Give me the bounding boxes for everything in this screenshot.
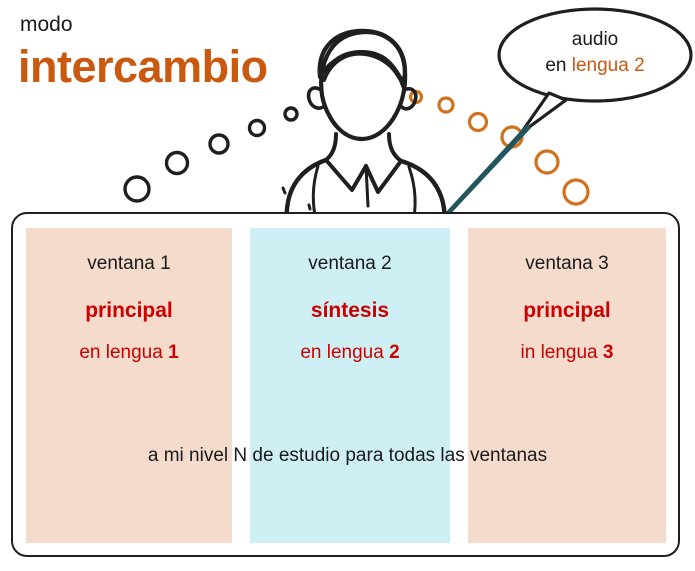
panel-footer-note: a mi nivel N de estudio para todas las v…	[0, 446, 695, 465]
diagram-canvas: modo intercambio	[0, 0, 695, 571]
window-role-2: síntesis	[250, 300, 450, 321]
thought-bubbles-orange	[411, 92, 589, 205]
window-language-prefix-2: en lengua	[300, 342, 389, 363]
window-role-3: principal	[468, 300, 666, 321]
window-label-3: ventana 3	[468, 254, 666, 273]
speech-balloon-line-2-prefix: en	[545, 55, 571, 76]
window-language-prefix-3: in lengua	[521, 342, 603, 363]
window-language-number-2: 2	[389, 342, 400, 363]
speech-balloon-line-1: audio	[505, 27, 685, 53]
speech-balloon-line-2-accent: lengua 2	[572, 55, 645, 76]
thought-bubbles-black	[125, 108, 297, 201]
speech-balloon-text: audio en lengua 2	[505, 27, 685, 78]
window-language-prefix-1: en lengua	[79, 342, 168, 363]
window-column-2[interactable]: ventana 2 síntesis en lengua 2	[250, 228, 450, 543]
window-role-1: principal	[26, 300, 232, 321]
window-language-1: en lengua 1	[26, 343, 232, 362]
page-title: intercambio	[18, 44, 268, 89]
window-language-number-1: 1	[168, 342, 179, 363]
window-language-number-3: 3	[603, 342, 614, 363]
window-language-3: in lengua 3	[468, 343, 666, 362]
window-language-2: en lengua 2	[250, 343, 450, 362]
eyebrow-label: modo	[20, 14, 73, 35]
window-column-3[interactable]: ventana 3 principal in lengua 3	[468, 228, 666, 543]
speech-balloon-line-2: en lengua 2	[505, 53, 685, 79]
window-column-1[interactable]: ventana 1 principal en lengua 1	[26, 228, 232, 543]
window-label-2: ventana 2	[250, 254, 450, 273]
window-label-1: ventana 1	[26, 254, 232, 273]
